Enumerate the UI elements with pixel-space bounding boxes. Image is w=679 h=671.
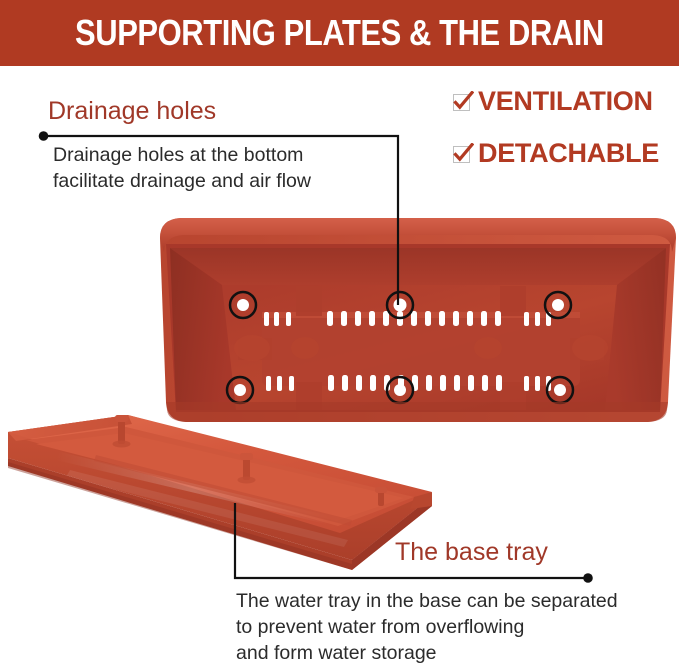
checked-checkbox-icon bbox=[452, 143, 474, 165]
infographic-canvas: SUPPORTING PLATES & THE DRAIN bbox=[0, 0, 679, 671]
callout-body-drainage-holes: Drainage holes at the bottom facilitate … bbox=[53, 142, 311, 194]
callout-heading-drainage-holes: Drainage holes bbox=[48, 97, 216, 126]
callout-body-base-tray: The water tray in the base can be separa… bbox=[236, 588, 618, 666]
feature-label: DETACHABLE bbox=[478, 138, 659, 169]
planter-box-graphic bbox=[160, 218, 676, 422]
base-tray-graphic bbox=[8, 415, 432, 570]
checked-checkbox-icon bbox=[452, 91, 474, 113]
feature-item-detachable: DETACHABLE bbox=[452, 138, 659, 169]
feature-label: VENTILATION bbox=[478, 86, 653, 117]
feature-item-ventilation: VENTILATION bbox=[452, 86, 653, 117]
callout-heading-base-tray: The base tray bbox=[395, 538, 548, 567]
